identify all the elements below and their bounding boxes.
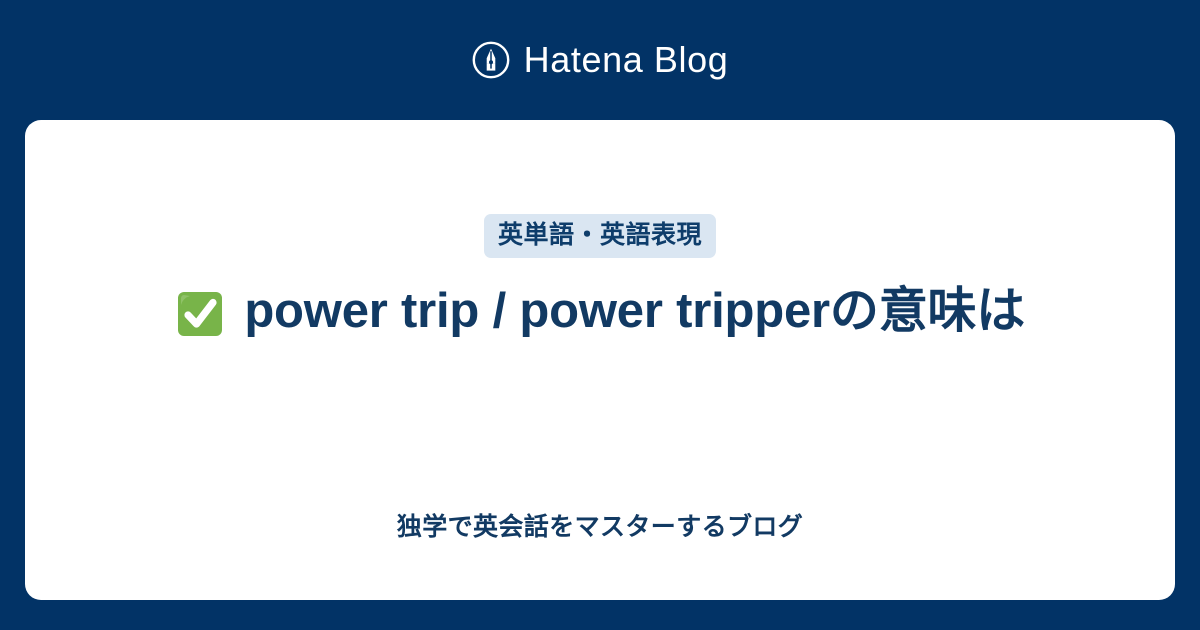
og-image-root: Hatena Blog 英単語・英語表現 power trip / power …: [0, 0, 1200, 630]
blog-name[interactable]: 独学で英会話をマスターするブログ: [25, 515, 1175, 540]
hatena-pen-nib-icon: [472, 41, 510, 79]
brand-name: Hatena Blog: [524, 42, 729, 78]
entry-title: power trip / power tripperの意味は: [150, 280, 1050, 343]
category-badge[interactable]: 英単語・英語表現: [484, 214, 716, 258]
entry-title-line-1: power trip / power tripper: [244, 284, 830, 338]
entry-title-line-2: の意味は: [830, 284, 1025, 338]
site-header: Hatena Blog: [0, 0, 1200, 120]
content-card: 英単語・英語表現 power trip / power tripperの意味は …: [25, 120, 1175, 600]
white-check-mark-icon: [175, 284, 244, 338]
